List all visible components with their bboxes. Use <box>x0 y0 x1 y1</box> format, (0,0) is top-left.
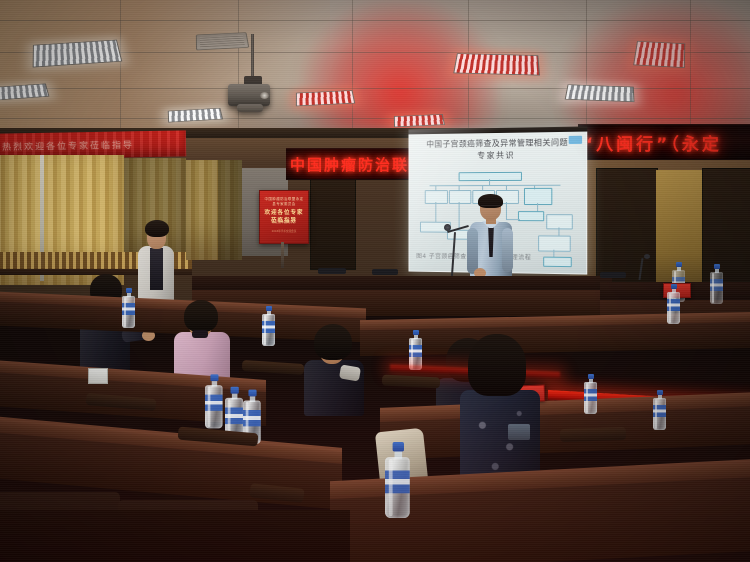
ceiling-light-panel <box>633 41 685 68</box>
ceiling <box>0 0 750 132</box>
water-bottle <box>409 330 422 370</box>
water-bottle <box>667 284 680 324</box>
chair-armrest <box>382 374 440 388</box>
desk-microphone-unit <box>318 268 346 274</box>
presenter-right-arm <box>502 228 513 272</box>
poster-line-4: 2018年学术交流会议 <box>263 229 305 233</box>
water-bottle <box>122 288 135 328</box>
desk-microphone-unit <box>372 269 398 275</box>
seated-attendee-lilac <box>172 300 238 376</box>
water-bottle <box>653 390 666 430</box>
projector-lens-icon <box>260 92 269 99</box>
desk-microphone-icon <box>644 254 650 259</box>
phone-device <box>508 424 530 440</box>
person-hair <box>468 334 526 396</box>
led-banner-text-left: 中国肿瘤防治联盟祁 <box>290 154 414 175</box>
poster-stand-leg <box>281 242 284 268</box>
chair-armrest <box>560 427 626 442</box>
conference-room-photo: 热烈欢迎各位专家莅临指导 中国肿瘤防治联盟祁 “八闽行”（永定 中国子宫颈癌筛查… <box>0 0 750 562</box>
ceiling-air-vent <box>196 32 249 50</box>
water-bottle <box>262 306 275 346</box>
seated-attendee-floral <box>452 338 548 488</box>
microphone-icon <box>444 224 451 231</box>
poster-line-1: 中国肿瘤防治联盟永定县专家委员会 <box>263 197 305 207</box>
water-bottle <box>584 374 597 414</box>
person-inner-top <box>150 248 163 290</box>
water-bottle-foreground <box>385 442 410 518</box>
person-hair-bun <box>192 330 208 338</box>
chair-armrest <box>242 360 305 375</box>
projector-mount-rod <box>251 34 254 80</box>
person-hair <box>184 300 218 332</box>
foreground-shadow <box>0 510 350 562</box>
person-hair <box>145 220 169 237</box>
welcome-poster: 中国肿瘤防治联盟永定县专家委员会 欢迎各位专家莅临指导 永定区中医院承办 201… <box>259 190 309 244</box>
seated-attendee-dark <box>300 326 372 412</box>
person-top <box>174 332 230 380</box>
window-blinds-mid-bright <box>186 160 218 260</box>
tissue-box <box>88 368 108 384</box>
person-hair <box>314 324 352 360</box>
led-scrolling-banner-left: 中国肿瘤防治联盟祁 <box>286 148 414 180</box>
led-banner-text-right: “八闽行”（永定 <box>582 130 722 155</box>
desk-microphone-unit <box>600 272 626 278</box>
cloth-banner-text: 热烈欢迎各位专家莅临指导 <box>2 138 134 153</box>
poster-line-3: 永定区中医院承办 <box>263 220 305 224</box>
projector-base <box>237 104 263 112</box>
ceiling-projector <box>228 84 270 106</box>
led-scrolling-banner-right: “八闽行”（永定 <box>578 124 750 160</box>
water-bottle <box>710 264 723 304</box>
ceiling-light-panel <box>453 53 540 75</box>
presenter-left-arm <box>467 228 478 274</box>
glasses-icon <box>481 205 500 210</box>
ceiling-light-panel <box>565 84 635 102</box>
